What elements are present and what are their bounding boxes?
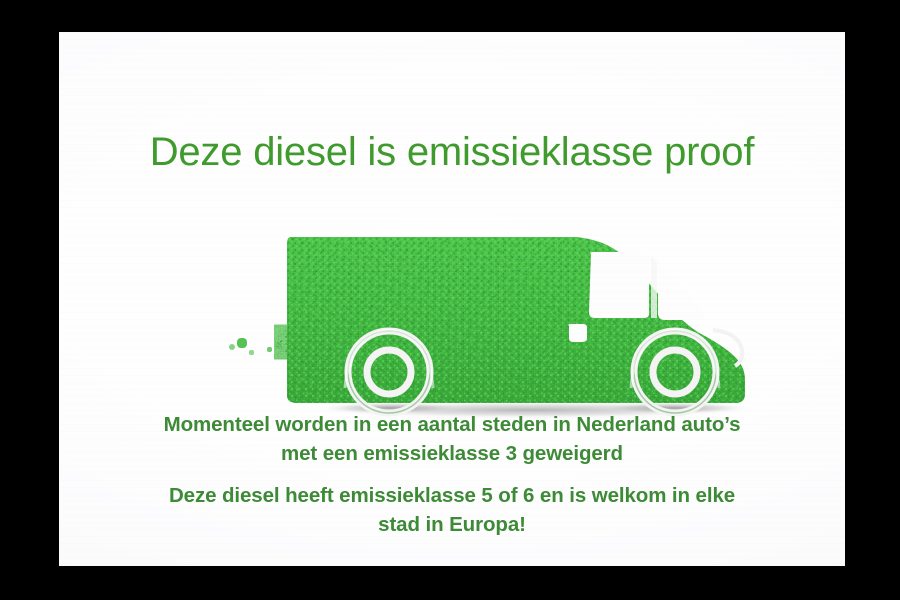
van-body xyxy=(179,192,799,427)
window-divider xyxy=(651,256,657,318)
van-illustration xyxy=(179,192,799,427)
side-window-icon xyxy=(589,252,649,318)
windshield-icon xyxy=(658,260,705,320)
door-handle-icon xyxy=(568,324,587,342)
poster-canvas: Deze diesel is emissieklasse proof xyxy=(59,32,845,566)
letterboxed-image-frame: Deze diesel is emissieklasse proof xyxy=(0,0,900,600)
paragraph-emissieklasse-3: Momenteel worden in een aantal steden in… xyxy=(59,410,845,468)
paragraph-2-line-2: stad in Europa! xyxy=(59,510,845,539)
paragraph-1-line-2: met een emissieklasse 3 geweigerd xyxy=(59,439,845,468)
paragraph-2-line-1: Deze diesel heeft emissieklasse 5 of 6 e… xyxy=(59,481,845,510)
green-van-graphic xyxy=(179,192,799,427)
paragraph-emissieklasse-5-6: Deze diesel heeft emissieklasse 5 of 6 e… xyxy=(59,481,845,539)
page-title: Deze diesel is emissieklasse proof xyxy=(59,128,845,176)
paragraph-1-line-1: Momenteel worden in een aantal steden in… xyxy=(59,410,845,439)
